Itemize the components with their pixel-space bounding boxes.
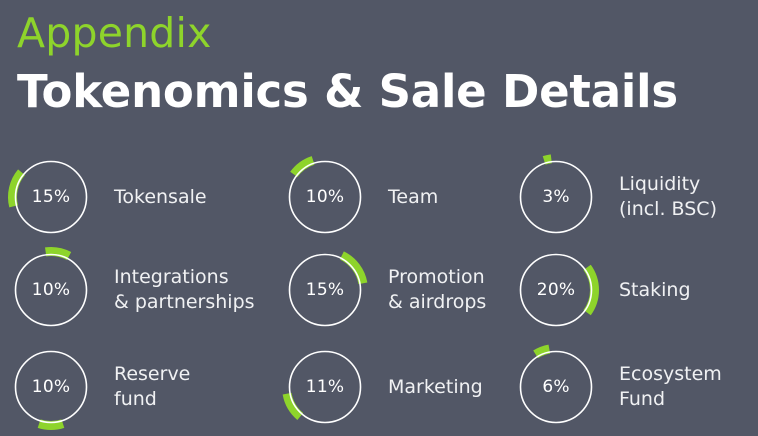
allocation-label: Integrations & partnerships xyxy=(114,265,294,315)
page-title: Tokenomics & Sale Details xyxy=(17,64,678,120)
allocation-item-liquidity: 3% Liquidity (incl. BSC) xyxy=(519,160,758,234)
allocation-label: Liquidity (incl. BSC) xyxy=(619,172,758,222)
allocation-item-promotion: 15% Promotion & airdrops xyxy=(288,253,548,327)
donut-chart-tokensale: 15% xyxy=(14,160,88,234)
slide-root: Appendix Tokenomics & Sale Details 15% T… xyxy=(0,0,758,436)
allocation-item-marketing: 11% Marketing xyxy=(288,350,548,424)
donut-arc-segment xyxy=(544,159,551,161)
donut-chart-staking: 20% xyxy=(519,253,593,327)
donut-chart-team: 10% xyxy=(288,160,362,234)
slide-eyebrow: Appendix xyxy=(17,8,212,58)
donut-ring-outline xyxy=(16,255,87,326)
donut-arc-segment xyxy=(39,424,63,426)
allocation-item-integrations: 10% Integrations & partnerships xyxy=(14,253,294,327)
donut-chart-ecosystem-fund: 6% xyxy=(519,350,593,424)
allocation-label: Tokensale xyxy=(114,185,294,210)
allocation-item-reserve-fund: 10% Reserve fund xyxy=(14,350,294,424)
donut-arc-segment xyxy=(294,160,313,174)
allocation-item-team: 10% Team xyxy=(288,160,548,234)
donut-ring-outline xyxy=(16,162,87,233)
donut-ring-outline xyxy=(290,162,361,233)
donut-chart-liquidity: 3% xyxy=(519,160,593,234)
donut-chart-promotion: 15% xyxy=(288,253,362,327)
donut-ring-outline xyxy=(290,352,361,423)
donut-ring-outline xyxy=(521,162,592,233)
donut-ring-outline xyxy=(521,255,592,326)
allocation-label: Reserve fund xyxy=(114,362,294,412)
allocation-item-ecosystem-fund: 6% Ecosystem Fund xyxy=(519,350,758,424)
donut-ring-outline xyxy=(521,352,592,423)
allocation-label: Ecosystem Fund xyxy=(619,362,758,412)
allocation-grid: 15% Tokensale 10% Team 3% Liquidity (inc… xyxy=(0,148,758,436)
donut-chart-marketing: 11% xyxy=(288,350,362,424)
donut-ring-outline xyxy=(16,352,87,423)
donut-ring-outline xyxy=(290,255,361,326)
donut-chart-reserve-fund: 10% xyxy=(14,350,88,424)
donut-arc-segment xyxy=(342,255,363,283)
allocation-label: Staking xyxy=(619,278,758,303)
allocation-item-staking: 20% Staking xyxy=(519,253,758,327)
donut-chart-integrations: 10% xyxy=(14,253,88,327)
allocation-item-tokensale: 15% Tokensale xyxy=(14,160,294,234)
